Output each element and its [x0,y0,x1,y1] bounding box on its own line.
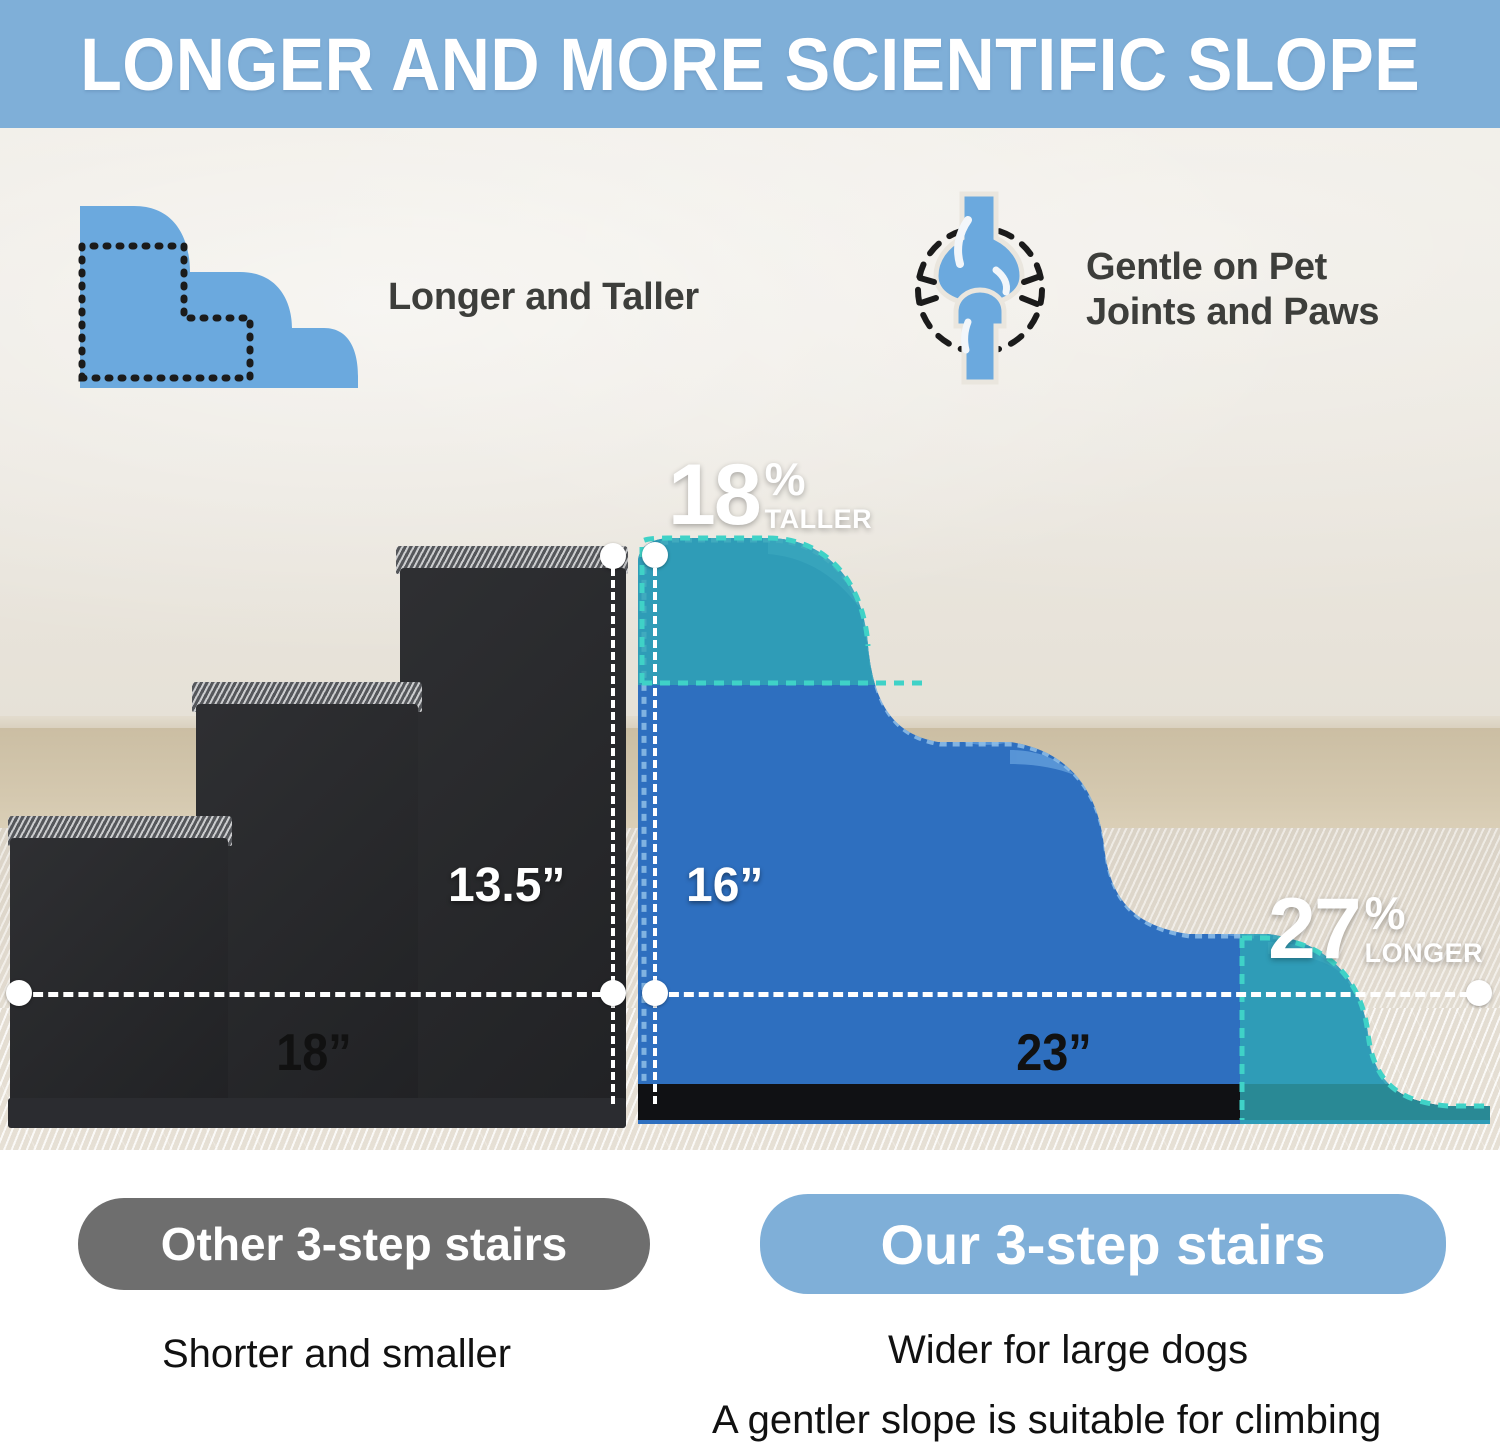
pill-other-stairs: Other 3-step stairs [78,1198,650,1290]
longer-callout: 27 % LONGER [1268,890,1483,969]
note-our-2: A gentler slope is suitable for climbing [712,1398,1381,1443]
feature-label-2: Gentle on Pet Joints and Paws [1086,245,1379,335]
note-our-1: Wider for large dogs [888,1328,1248,1373]
competitor-riser-3 [400,568,626,1128]
feature-label-2-line1: Gentle on Pet [1086,245,1379,290]
measure-line-ours-width [654,992,1470,997]
taller-callout-symbol: % [765,458,806,502]
feature-longer-and-taller: Longer and Taller [72,200,699,395]
header-banner: LONGER AND MORE SCIENTIFIC SLOPE [0,0,1500,128]
feature-gentle-on-joints: Gentle on Pet Joints and Paws [900,190,1379,390]
pet-joint-icon [900,190,1060,390]
longer-callout-word: LONGER [1365,938,1484,969]
pill-our-stairs: Our 3-step stairs [760,1194,1446,1294]
taller-callout: 18 % TALLER [668,456,872,535]
note-other-1: Shorter and smaller [162,1332,511,1377]
competitor-riser-1 [10,838,228,1128]
taller-callout-word: TALLER [765,504,872,535]
competitor-width-label: 18” [276,1023,351,1083]
competitor-height-label: 13.5” [448,858,565,913]
infographic-page: LONGER AND MORE SCIENTIFIC SLOPE Longer … [0,0,1500,1452]
feature-label-1-line1: Longer and Taller [388,275,699,320]
taller-callout-number: 18 [668,456,760,535]
feature-label-2-line2: Joints and Paws [1086,290,1379,335]
competitor-base [8,1098,626,1128]
product-comparison-photo: Longer and Taller [0,128,1500,1150]
banner-title: LONGER AND MORE SCIENTIFIC SLOPE [80,22,1420,107]
measure-dot-competitor-right [600,980,626,1006]
comparison-section: Other 3-step stairs Our 3-step stairs Sh… [0,1150,1500,1452]
stairs-outline-icon [72,200,362,395]
measure-line-competitor-height [611,556,615,1104]
longer-callout-symbol: % [1365,892,1406,936]
measure-line-ours-height [653,556,657,1104]
ours-height-label: 16” [686,858,763,913]
measure-line-competitor-width [18,992,602,997]
pill-other-stairs-label: Other 3-step stairs [161,1217,567,1271]
pill-our-stairs-label: Our 3-step stairs [880,1212,1325,1277]
longer-callout-number: 27 [1268,890,1360,969]
ours-width-label: 23” [1016,1023,1091,1083]
feature-label-1: Longer and Taller [388,275,699,320]
